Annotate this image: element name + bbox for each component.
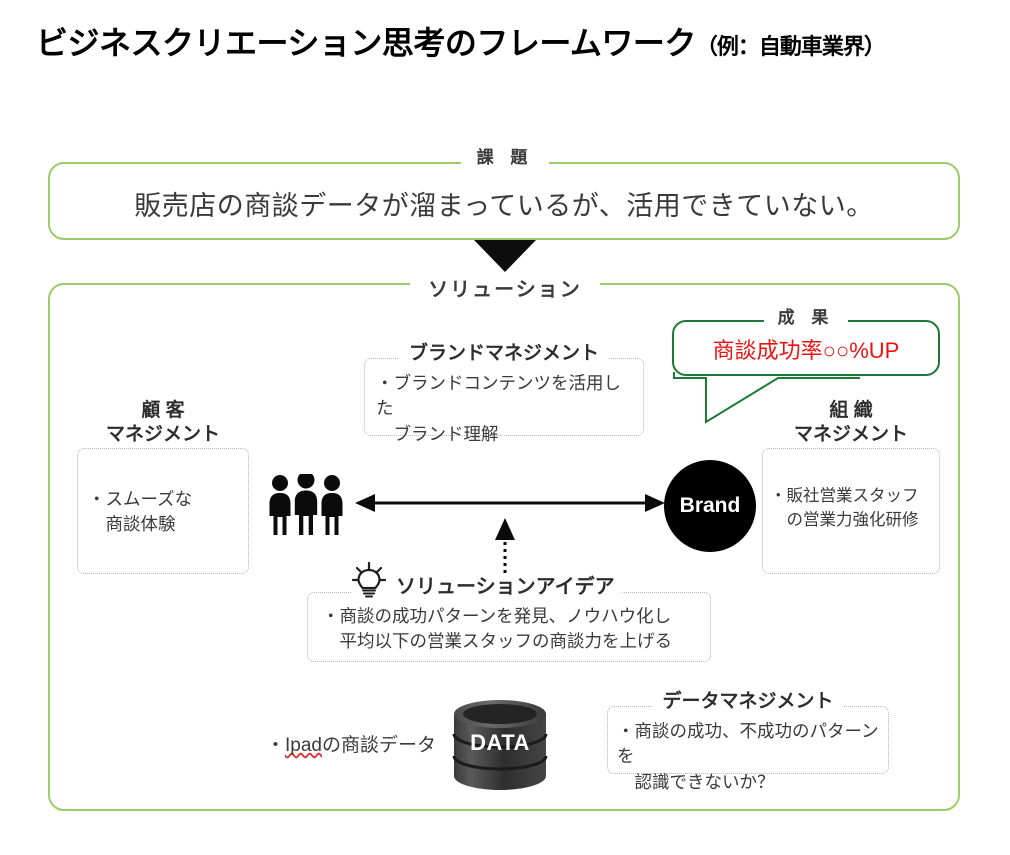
database-cylinder-icon bbox=[452, 700, 548, 790]
solution-idea-body: ・商談の成功パターンを発見、ノウハウ化し 平均以下の営業スタッフの商談力を上げる bbox=[322, 604, 712, 655]
callout-tail bbox=[660, 370, 860, 460]
brand-bidirectional-arrow bbox=[355, 490, 665, 516]
brand-node: Brand bbox=[664, 460, 756, 552]
result-text: 商談成功率○○%UP bbox=[672, 333, 940, 365]
data-management-title-text: データマネジメント bbox=[652, 691, 843, 712]
solution-idea-title: ソリューションアイデア bbox=[362, 570, 652, 599]
issue-text: 販売店の商談データが溜まっているが、活用できていない。 bbox=[48, 184, 960, 223]
people-icon bbox=[266, 474, 346, 536]
brand-node-label: Brand bbox=[680, 494, 741, 518]
result-label-text: 成 果 bbox=[764, 308, 849, 327]
page-title-sub: （例：自動車業界） bbox=[696, 34, 885, 59]
customer-management-title: 顧 客 マネジメント bbox=[77, 399, 249, 447]
solution-idea-title-text: ソリューションアイデア bbox=[362, 576, 621, 598]
result-label: 成 果 bbox=[672, 303, 940, 328]
ipad-data-term: Ipad bbox=[285, 735, 322, 756]
ipad-data-label: ・Ipadの商談データ bbox=[266, 730, 436, 757]
down-triangle-icon bbox=[474, 240, 536, 272]
solution-label-text: ソリューション bbox=[410, 279, 600, 301]
issue-label: 課 題 bbox=[0, 143, 1010, 168]
solution-label: ソリューション bbox=[0, 273, 1010, 302]
brand-management-title: ブランドマネジメント bbox=[364, 338, 644, 365]
customer-management-body: ・スムーズな 商談体験 bbox=[88, 487, 243, 538]
issue-label-text: 課 題 bbox=[461, 148, 550, 167]
ipad-data-prefix: ・ bbox=[266, 735, 285, 756]
lightbulb-icon bbox=[352, 562, 386, 600]
data-management-title: データマネジメント bbox=[607, 686, 889, 713]
page-title: ビジネスクリエーション思考のフレームワーク（例：自動車業界） bbox=[36, 18, 885, 64]
data-management-body: ・商談の成功、不成功のパターンを 認識できないか？ bbox=[617, 719, 885, 795]
brand-management-title-text: ブランドマネジメント bbox=[399, 343, 609, 364]
brand-management-body: ・ブランドコンテンツを活用した ブランド理解 bbox=[376, 371, 638, 447]
page-title-main: ビジネスクリエーション思考のフレームワーク bbox=[36, 25, 696, 61]
ipad-data-suffix: の商談データ bbox=[322, 735, 436, 756]
organization-management-body: ・販社営業スタッフ の営業力強化研修 bbox=[770, 485, 940, 533]
